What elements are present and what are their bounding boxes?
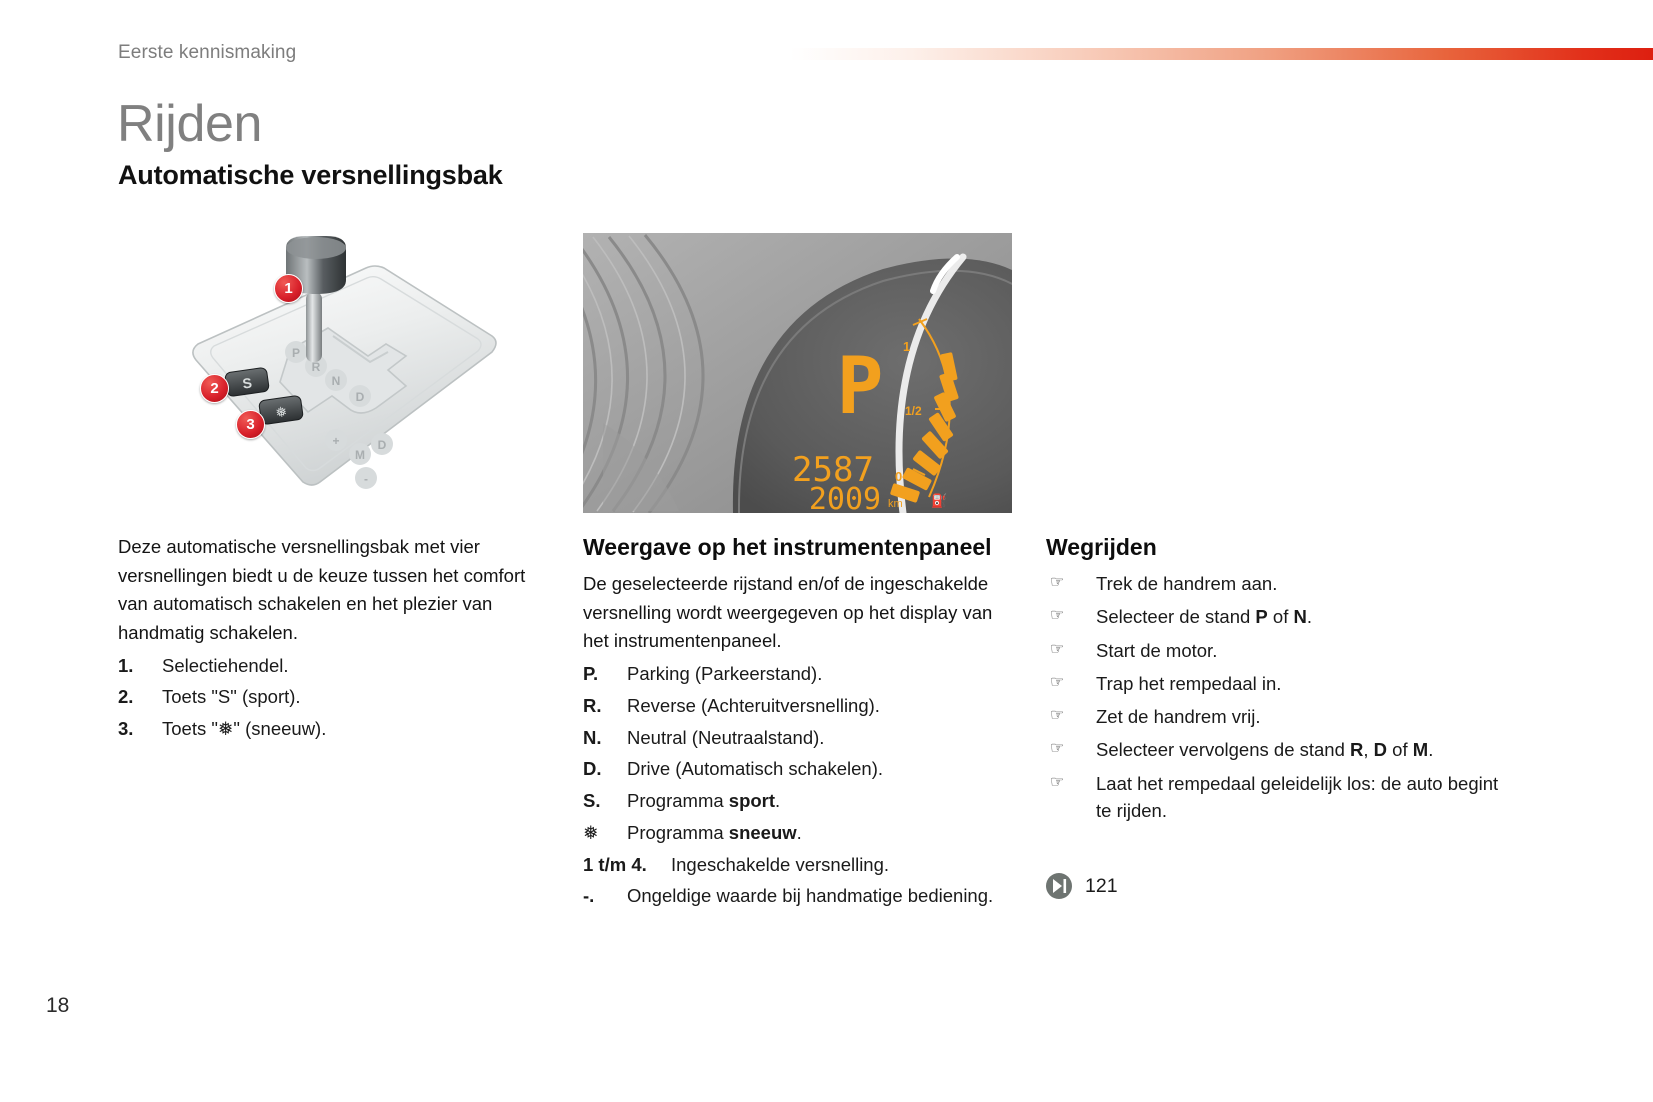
- callout-1: 1: [274, 274, 303, 303]
- svg-text:❅: ❅: [274, 404, 288, 421]
- selector-parts-list: 1. Selectiehendel. 2. Toets "S" (sport).…: [118, 652, 538, 743]
- gear-position-list: P. Parking (Parkeerstand). R. Reverse (A…: [583, 660, 1013, 910]
- list-item: ☞ Zet de handrem vrij.: [1046, 703, 1516, 731]
- callout-2: 2: [200, 374, 229, 403]
- pointing-hand-icon: ☞: [1046, 603, 1096, 629]
- svg-text:R: R: [312, 360, 321, 374]
- right-column: Wegrijden ☞ Trek de handrem aan. ☞ Selec…: [1046, 533, 1516, 899]
- list-item: P. Parking (Parkeerstand).: [583, 660, 1013, 688]
- list-item: ☞ Start de motor.: [1046, 637, 1516, 665]
- middle-intro-paragraph: De geselecteerde rijstand en/of de inges…: [583, 570, 1013, 656]
- left-column: Deze automatische versnellingsbak met vi…: [118, 533, 538, 743]
- list-item: ☞ Trap het rempedaal in.: [1046, 670, 1516, 698]
- list-item-text: Reverse (Achteruitversnelling).: [627, 692, 1013, 720]
- page-number: 18: [46, 994, 69, 1018]
- list-item: ☞ Selecteer vervolgens de stand R, D of …: [1046, 736, 1516, 764]
- list-item: 1 t/m 4. Ingeschakelde versnelling.: [583, 851, 1013, 879]
- svg-text:km: km: [888, 498, 903, 510]
- svg-text:1/2: 1/2: [905, 404, 922, 418]
- list-item-key-snowflake: ❅: [583, 819, 627, 847]
- left-intro-paragraph: Deze automatische versnellingsbak met vi…: [118, 533, 538, 648]
- running-head: Eerste kennismaking: [118, 42, 296, 64]
- emphasis: sport: [729, 790, 775, 811]
- list-item: R. Reverse (Achteruitversnelling).: [583, 692, 1013, 720]
- svg-text:P: P: [292, 346, 300, 360]
- svg-text:1: 1: [903, 339, 910, 354]
- list-item-key: 1.: [118, 652, 162, 680]
- svg-text:N: N: [332, 374, 341, 388]
- list-item-key: N.: [583, 724, 627, 752]
- pointing-hand-icon: ☞: [1046, 570, 1096, 596]
- list-item-text: Toets "S" (sport).: [162, 683, 538, 711]
- emphasis: sneeuw: [729, 822, 797, 843]
- list-item: ☞ Selecteer de stand P of N.: [1046, 603, 1516, 631]
- list-item: D. Drive (Automatisch schakelen).: [583, 755, 1013, 783]
- list-item: ❅ Programma sneeuw.: [583, 819, 1013, 847]
- list-item-key: 1 t/m 4.: [583, 851, 671, 879]
- middle-column: Weergave op het instrumentenpaneel De ge…: [583, 533, 1013, 910]
- cross-reference[interactable]: 121: [1046, 873, 1516, 899]
- list-item-text: Zet de handrem vrij.: [1096, 703, 1516, 731]
- list-item: 3. Toets "❅" (sneeuw).: [118, 715, 538, 743]
- section-title: Automatische versnellingsbak: [118, 160, 538, 192]
- list-item-text: Programma sneeuw.: [627, 819, 1013, 847]
- instrument-cluster-photo: P 2587 2009 km 1 1/2 0: [583, 233, 1012, 513]
- list-item-text: Ongeldige waarde bij handmatige bedienin…: [627, 882, 1013, 910]
- svg-text:-: -: [364, 472, 368, 486]
- list-item: -. Ongeldige waarde bij handmatige bedie…: [583, 882, 1013, 910]
- svg-text:⛽: ⛽: [931, 493, 947, 509]
- manual-page: Eerste kennismaking Rijden Automatische …: [0, 0, 1653, 1102]
- list-item: 2. Toets "S" (sport).: [118, 683, 538, 711]
- pointing-hand-icon: ☞: [1046, 770, 1096, 796]
- cluster-gear-letter: P: [837, 342, 884, 432]
- driving-off-steps-list: ☞ Trek de handrem aan. ☞ Selecteer de st…: [1046, 570, 1516, 825]
- pointing-hand-icon: ☞: [1046, 703, 1096, 729]
- list-item-key: P.: [583, 660, 627, 688]
- cluster-trip: 2009: [809, 482, 881, 513]
- list-item-text: Ingeschakelde versnelling.: [671, 851, 1013, 879]
- list-item: ☞ Laat het rempedaal geleidelijk los: de…: [1046, 770, 1516, 826]
- svg-text:D: D: [378, 438, 387, 452]
- list-item-key: D.: [583, 755, 627, 783]
- header-gradient-rule: [790, 48, 1653, 60]
- list-item-text: Drive (Automatisch schakelen).: [627, 755, 1013, 783]
- list-item-text: Programma sport.: [627, 787, 1013, 815]
- pointing-hand-icon: ☞: [1046, 637, 1096, 663]
- list-item: ☞ Trek de handrem aan.: [1046, 570, 1516, 598]
- list-item-key: 3.: [118, 715, 162, 743]
- list-item-text: Trap het rempedaal in.: [1096, 670, 1516, 698]
- middle-column-heading: Weergave op het instrumentenpaneel: [583, 533, 1013, 561]
- list-item-text: Neutral (Neutraalstand).: [627, 724, 1013, 752]
- list-item: N. Neutral (Neutraalstand).: [583, 724, 1013, 752]
- list-item-text: Selecteer de stand P of N.: [1096, 603, 1516, 631]
- list-item-key: S.: [583, 787, 627, 815]
- svg-text:M: M: [355, 448, 365, 462]
- page-jump-icon: [1046, 873, 1072, 899]
- list-item-text: Trek de handrem aan.: [1096, 570, 1516, 598]
- gear-selector-illustration: P R N D + M D - S ❅ 1 2 3: [170, 232, 510, 510]
- list-item-text: Parking (Parkeerstand).: [627, 660, 1013, 688]
- svg-text:0: 0: [895, 469, 902, 484]
- list-item-text: Selecteer vervolgens de stand R, D of M.: [1096, 736, 1516, 764]
- pointing-hand-icon: ☞: [1046, 736, 1096, 762]
- list-item-text: Laat het rempedaal geleidelijk los: de a…: [1096, 770, 1516, 826]
- list-item-key: R.: [583, 692, 627, 720]
- list-item-text: Start de motor.: [1096, 637, 1516, 665]
- list-item-text: Toets "❅" (sneeuw).: [162, 715, 538, 743]
- cross-reference-page: 121: [1085, 875, 1118, 898]
- list-item-key: 2.: [118, 683, 162, 711]
- list-item: 1. Selectiehendel.: [118, 652, 538, 680]
- svg-text:+: +: [332, 434, 339, 448]
- list-item: S. Programma sport.: [583, 787, 1013, 815]
- list-item-key: -.: [583, 882, 627, 910]
- svg-text:D: D: [356, 390, 365, 404]
- right-column-heading: Wegrijden: [1046, 533, 1516, 561]
- chapter-title: Rijden: [117, 98, 262, 150]
- callout-3: 3: [236, 410, 265, 439]
- pointing-hand-icon: ☞: [1046, 670, 1096, 696]
- list-item-text: Selectiehendel.: [162, 652, 538, 680]
